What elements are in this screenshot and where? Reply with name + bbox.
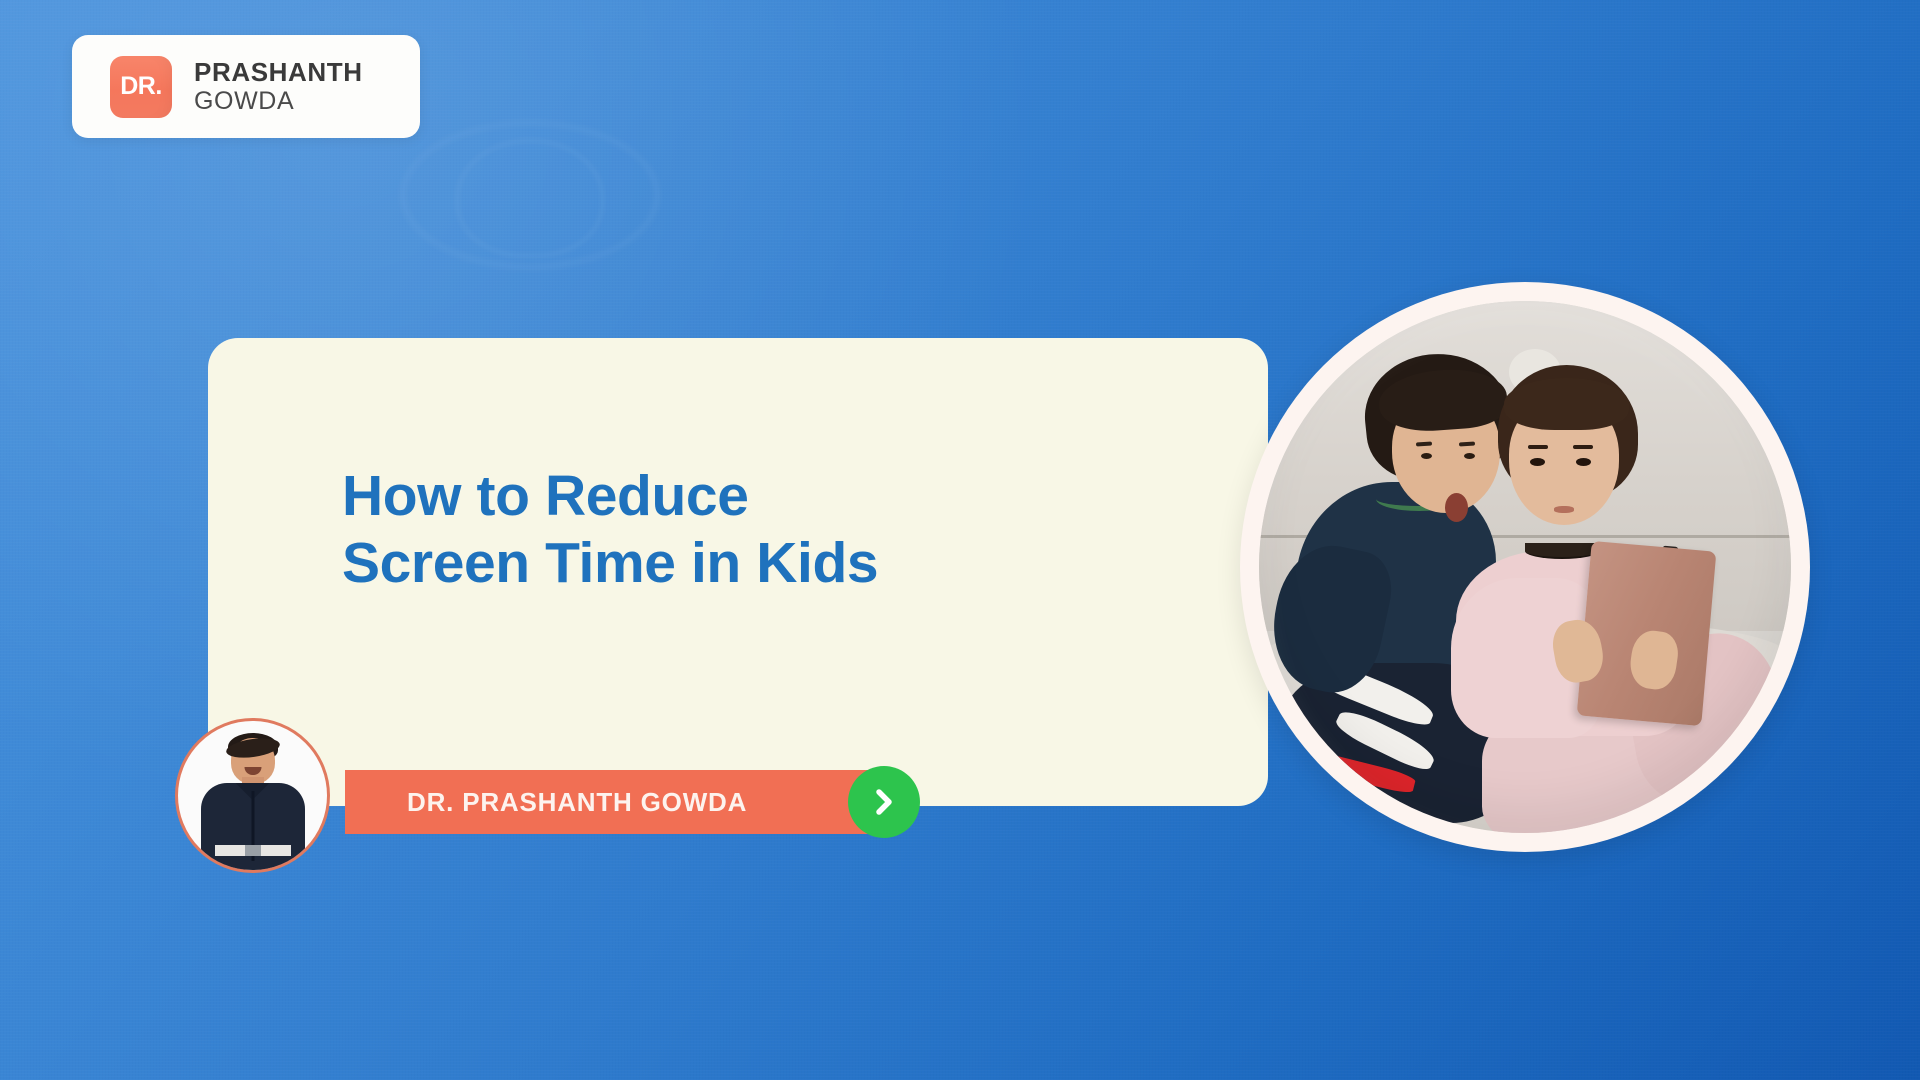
background-watermark-inner-icon: [455, 138, 605, 258]
girl-eyebrow-left: [1528, 445, 1548, 449]
boy-mouth: [1445, 493, 1468, 522]
dr-badge-label: DR.: [120, 72, 162, 101]
girl-choker-necklace: [1525, 543, 1599, 559]
girl-lips: [1554, 506, 1574, 513]
girl-eyebrow-right: [1573, 445, 1593, 449]
next-button[interactable]: [848, 766, 920, 838]
brand-name-line2: GOWDA: [194, 89, 363, 114]
girl-eye-right: [1576, 458, 1591, 466]
boy-eye-left: [1421, 453, 1432, 459]
avatar: [175, 718, 330, 873]
avatar-belt-buckle: [245, 845, 261, 856]
brand-name: PRASHANTH GOWDA: [194, 59, 363, 114]
page-title: How to Reduce Screen Time in Kids: [342, 463, 878, 598]
author-byline-bar: DR. PRASHANTH GOWDA: [345, 770, 900, 834]
boy-eye-right: [1464, 453, 1475, 459]
girl-hair-front: [1504, 378, 1629, 430]
brand-logo-card[interactable]: DR. PRASHANTH GOWDA: [72, 35, 420, 138]
brand-name-line1: PRASHANTH: [194, 59, 363, 85]
hero-photo: [1259, 301, 1791, 833]
author-name: DR. PRASHANTH GOWDA: [407, 787, 747, 818]
dr-badge-icon: DR.: [110, 56, 172, 118]
hero-photo-ring: [1240, 282, 1810, 852]
chevron-right-icon: [867, 785, 901, 819]
